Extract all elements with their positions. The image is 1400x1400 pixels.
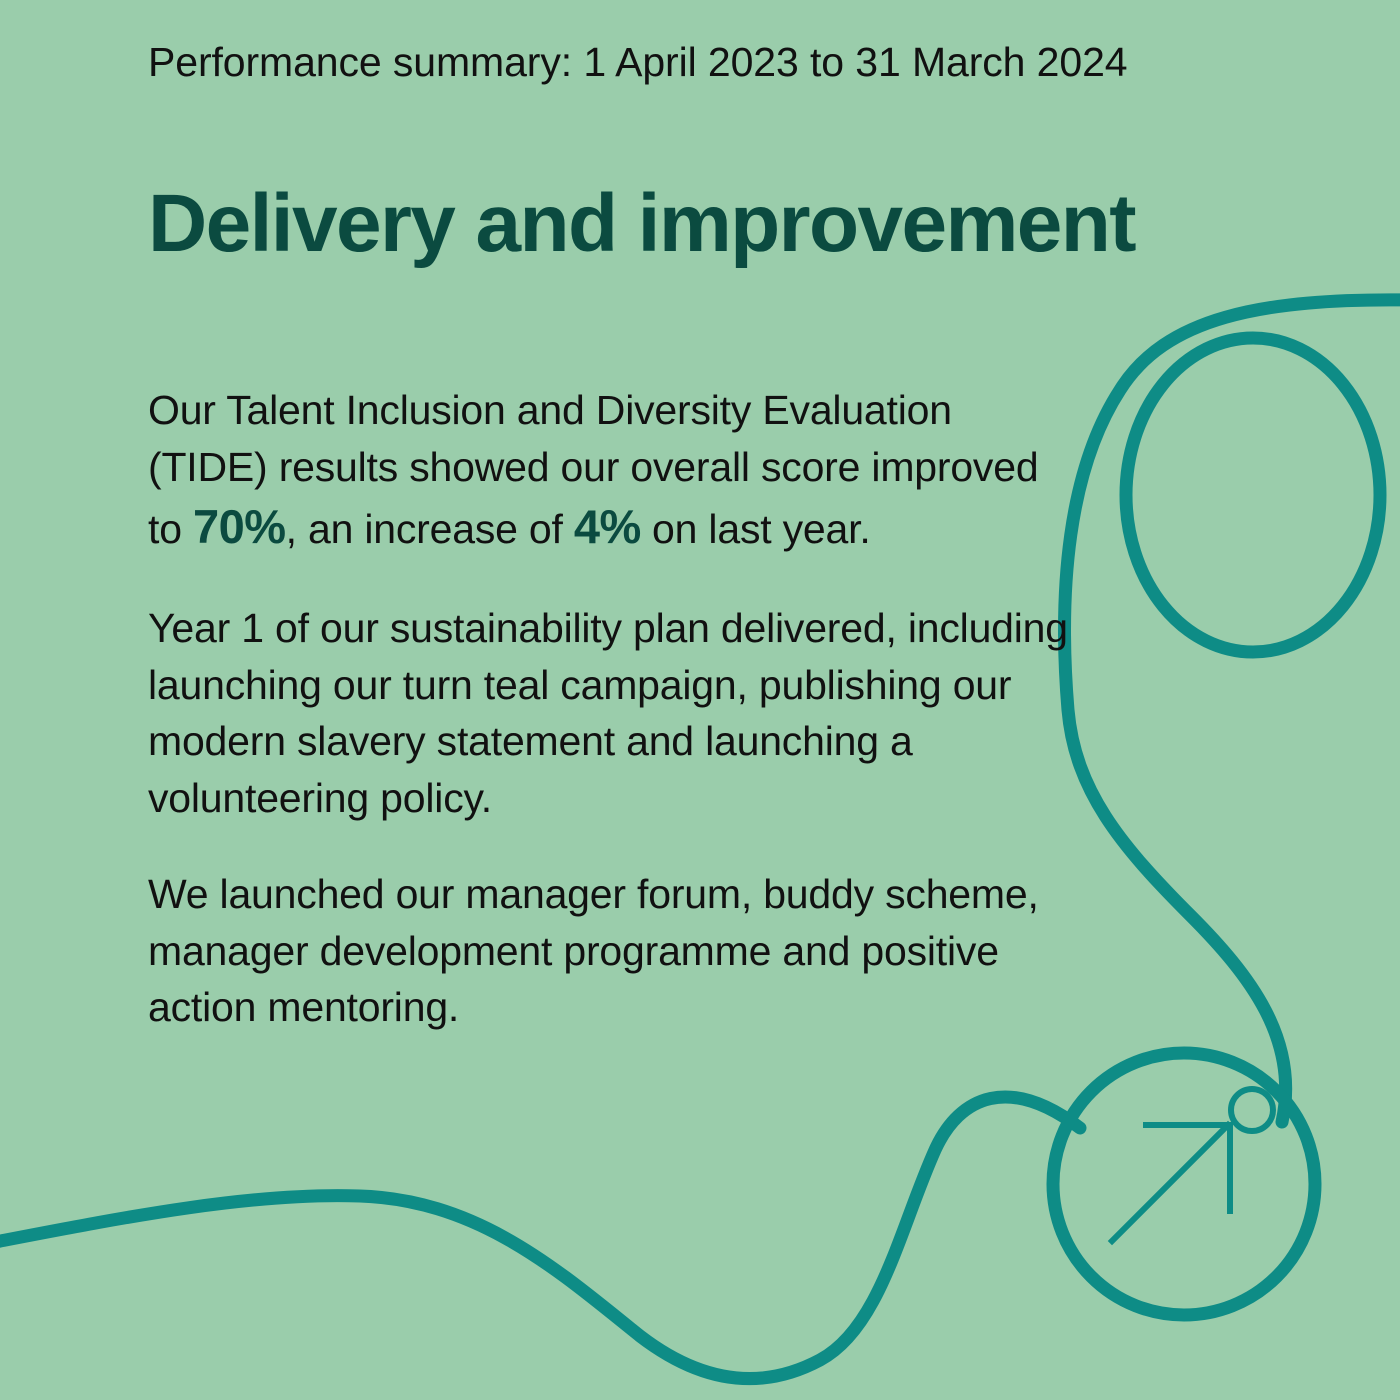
paragraph-sustainability-plan: Year 1 of our sustainability plan delive… [148, 600, 1068, 826]
tide-increase-stat: 4% [574, 500, 641, 553]
body-copy: Our Talent Inclusion and Diversity Evalu… [148, 382, 1068, 1036]
tide-score-stat: 70% [193, 500, 286, 553]
performance-summary-eyebrow: Performance summary: 1 April 2023 to 31 … [148, 40, 1127, 86]
page-title: Delivery and improvement [148, 181, 1135, 267]
paragraph-tide-results: Our Talent Inclusion and Diversity Evalu… [148, 382, 1068, 560]
slide-root: Performance summary: 1 April 2023 to 31 … [0, 0, 1400, 1400]
paragraph1-part2: , an increase of [286, 506, 574, 552]
content-layer: Performance summary: 1 April 2023 to 31 … [0, 0, 1400, 1400]
paragraph-manager-forum: We launched our manager forum, buddy sch… [148, 866, 1068, 1036]
paragraph1-part3: on last year. [641, 506, 871, 552]
